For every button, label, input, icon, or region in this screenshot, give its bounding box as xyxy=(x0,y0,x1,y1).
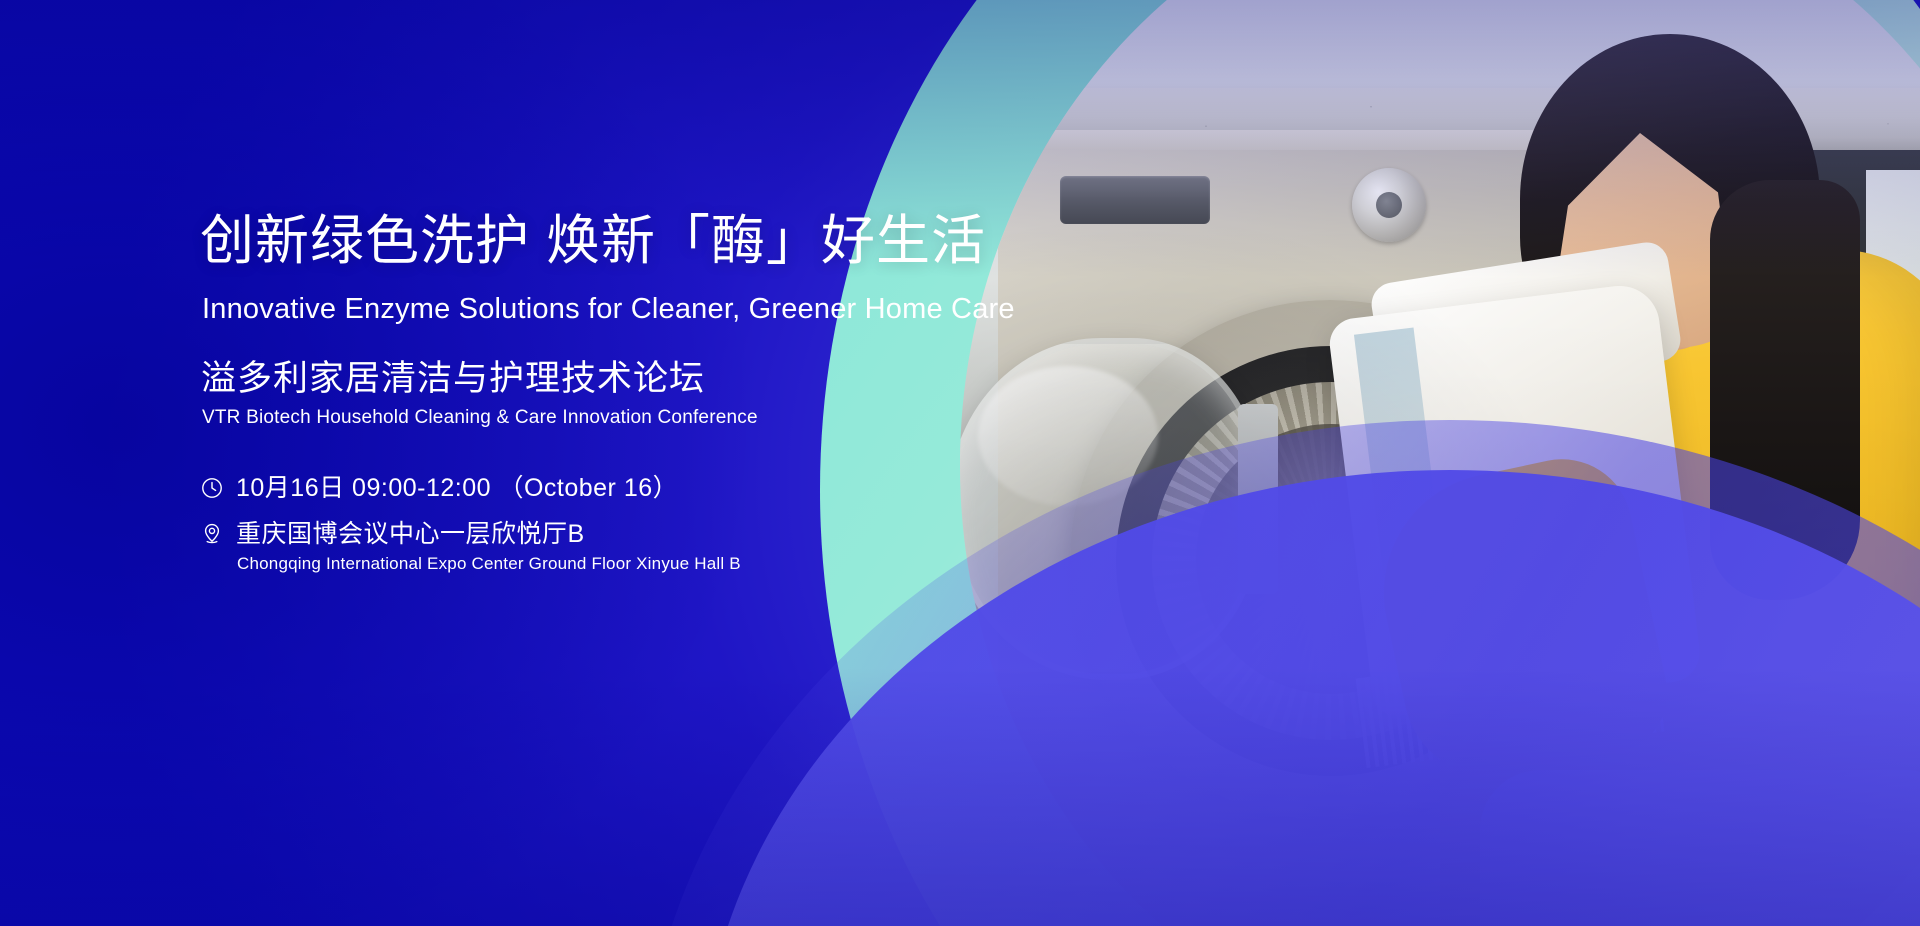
conference-name-english: VTR Biotech Household Cleaning & Care In… xyxy=(202,407,758,430)
clock-icon xyxy=(200,476,224,500)
event-banner: 创新绿色洗护 焕新「酶」好生活 Innovative Enzyme Soluti… xyxy=(0,0,1920,926)
event-venue-row: 重庆国博会议中心一层欣悦厅B Chongqing International E… xyxy=(200,518,741,575)
event-venue-english: Chongqing International Expo Center Grou… xyxy=(236,553,741,575)
event-venue-chinese: 重庆国博会议中心一层欣悦厅B xyxy=(236,518,741,551)
location-pin-icon xyxy=(200,522,224,546)
headline-chinese: 创新绿色洗护 焕新「酶」好生活 xyxy=(200,212,986,270)
banner-text-block: 创新绿色洗护 焕新「酶」好生活 Innovative Enzyme Soluti… xyxy=(200,0,1020,926)
event-venue-texts: 重庆国博会议中心一层欣悦厅B Chongqing International E… xyxy=(236,518,741,575)
conference-name-chinese: 溢多利家居清洁与护理技术论坛 xyxy=(201,358,705,400)
headline-english: Innovative Enzyme Solutions for Cleaner,… xyxy=(202,294,1015,326)
event-date-row: 10月16日 09:00-12:00 （October 16） xyxy=(200,472,678,505)
event-date-text: 10月16日 09:00-12:00 （October 16） xyxy=(236,472,678,505)
